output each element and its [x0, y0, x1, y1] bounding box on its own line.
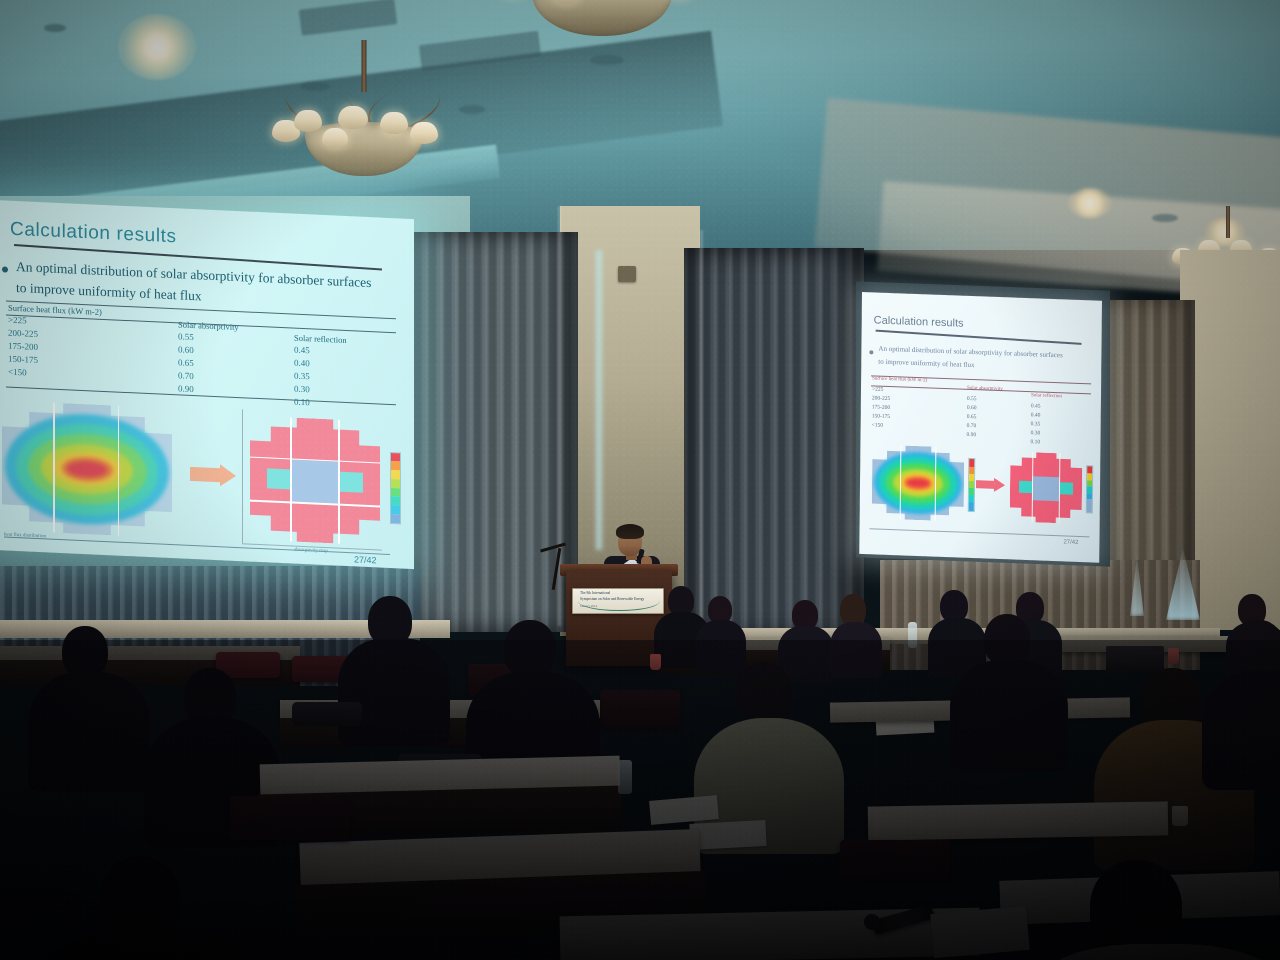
table-cell: 0.40: [1031, 412, 1041, 418]
colorbar-segment: [391, 496, 399, 505]
ceiling-spotlight-icon: [1068, 188, 1112, 218]
table-cell: 0.35: [1031, 421, 1041, 427]
chandelier-lamp-icon: [380, 112, 408, 134]
table-cell: 0.55: [967, 396, 977, 402]
chandelier-lamp-icon: [410, 122, 438, 144]
podium-sign-swoosh: [578, 599, 660, 611]
curtain-left: [410, 232, 578, 632]
figure-heatmap-before: [2, 400, 172, 538]
attendee-body: [830, 622, 882, 678]
slide-bottom-rule-right: [870, 528, 1090, 537]
laptop-bag: [292, 702, 362, 726]
table-cell: 0.65: [967, 414, 977, 420]
table-cell: 0.45: [294, 345, 310, 356]
chandelier-lamp-icon: [294, 110, 322, 132]
wall-vent-icon: [618, 266, 636, 282]
table-cell: <150: [8, 367, 27, 378]
table-cell: 0.90: [178, 383, 194, 394]
table-cell: 0.70: [178, 370, 194, 381]
slide-bullet-line-1-right: An optimal distribution of solar absorpt…: [878, 345, 1062, 360]
handout: [689, 820, 766, 850]
paper-cup: [566, 930, 594, 960]
secondary-projection-screen[interactable]: Calculation results An optimal distribut…: [859, 292, 1102, 563]
table-cell: >225: [872, 386, 883, 392]
table-cell: 200-225: [8, 328, 38, 339]
colorbar-segment: [391, 488, 399, 497]
slide-title: Calculation results: [10, 219, 177, 249]
table-cell: 0.30: [294, 384, 310, 395]
slide-bullet-line-2-right: to improve uniformity of heat flux: [878, 358, 974, 370]
attendee-head: [62, 626, 108, 678]
table-cell: 0.55: [178, 331, 194, 342]
colorbar: [1086, 465, 1093, 513]
region-center-cold: [1033, 476, 1059, 501]
plot-axis-y: [242, 409, 243, 543]
attendee-head: [736, 662, 792, 724]
podium-sign: The 8th International Symposium on Solar…: [572, 588, 664, 614]
chandelier: [492, 0, 712, 72]
figure-absorptivity-after: [250, 416, 380, 546]
slide-table-right: Surface heat flux (kW m-2) Solar absorpt…: [870, 374, 1093, 444]
slide-content-left: Calculation results An optimal distribut…: [0, 200, 414, 569]
bullet-marker-right: [869, 350, 873, 354]
slide-number-left: 27/42: [354, 554, 377, 565]
table-cell: 0.90: [967, 432, 977, 438]
attendee-body: [28, 672, 150, 792]
chandelier-rod: [362, 40, 367, 92]
wall-seam: [700, 230, 703, 630]
chandelier-lamp-icon: [322, 128, 348, 148]
table-cell: 0.35: [294, 371, 310, 382]
colorbar-segment: [391, 462, 399, 471]
figure-heatmap-before-right: [872, 444, 965, 521]
transition-arrow: [190, 467, 220, 482]
table-cell: 0.10: [294, 397, 310, 408]
colorbar-segment: [391, 505, 399, 514]
table-cell: 0.30: [1031, 430, 1041, 436]
chandelier-lamp-icon: [338, 106, 368, 129]
water-bottle: [908, 622, 917, 648]
attendee-head: [1090, 860, 1182, 956]
attendee-body: [696, 620, 746, 672]
figure-absorptivity-after-right: [1010, 451, 1083, 524]
attendee-body: [1040, 944, 1280, 960]
conference-room-photo: Calculation results An optimal distribut…: [0, 0, 1280, 960]
table-cell: 200-225: [872, 395, 890, 402]
transition-arrow-head-right: [994, 478, 1005, 492]
table-cell: 0.45: [1031, 403, 1041, 409]
table-cell: <150: [872, 422, 883, 428]
attendee-head: [1234, 620, 1280, 676]
colorbar-segment: [1087, 499, 1092, 512]
table-header-cell: Solar reflection: [294, 333, 347, 345]
region-side-strip: [338, 472, 363, 493]
paper-cup: [650, 654, 661, 670]
colorbar-segment: [391, 514, 399, 523]
chandelier-bowl: [532, 0, 672, 36]
table-header-cell: Surface heat flux (kW m-2): [872, 376, 927, 383]
region-center-cold: [292, 460, 339, 504]
table-cell: 0.40: [294, 358, 310, 369]
attendee-body: [40, 930, 260, 960]
table-row-front-right: [868, 801, 1169, 840]
presenter-hair: [616, 524, 644, 539]
attendee-head: [984, 614, 1030, 666]
table-cell: 150-175: [872, 413, 890, 420]
attendee-head: [504, 620, 556, 678]
region-side-strip: [267, 468, 292, 489]
table-cell: 175-200: [8, 341, 38, 352]
table-cell: 0.70: [967, 423, 977, 429]
table-cell: >225: [8, 315, 27, 326]
laptop: [1106, 646, 1164, 672]
panel-seam: [53, 403, 55, 533]
colorbar-segment: [391, 453, 399, 462]
transition-arrow-head: [220, 464, 236, 487]
colorbar: [967, 458, 975, 512]
attendee-body: [950, 660, 1068, 772]
attendee-body: [338, 638, 450, 746]
region-side-strip: [1059, 483, 1073, 495]
transition-arrow-right: [976, 480, 994, 489]
wall-light-strip: [594, 250, 604, 550]
chair: [840, 840, 950, 880]
chandelier-rod: [1226, 206, 1230, 238]
region-side-strip: [1019, 481, 1033, 493]
attendee-body: [1202, 670, 1280, 790]
water-bottle: [618, 760, 632, 794]
colorbar-segment: [391, 479, 399, 488]
table-cell: 0.10: [1030, 439, 1040, 445]
slide-content-right: Calculation results An optimal distribut…: [859, 292, 1102, 563]
slide-table: Surface heat flux (kW m-2) Solar absorpt…: [6, 299, 400, 405]
chair: [230, 796, 350, 840]
ceiling-spotlight-icon: [118, 14, 196, 80]
chandelier: [264, 40, 464, 180]
podium-sign-line-1: The 8th International: [580, 591, 610, 595]
panel-seam: [338, 420, 340, 544]
table-cell: 0.65: [178, 357, 194, 368]
panel-seam: [118, 406, 120, 536]
chair: [600, 690, 680, 728]
colorbar: [390, 452, 400, 524]
air-vent-icon: [44, 24, 66, 32]
title-underline-right: [876, 330, 1082, 345]
table-header-cell: Solar reflection: [1031, 393, 1062, 399]
curtain-center: [684, 248, 864, 638]
colorbar-segment: [391, 470, 399, 479]
table-cell: 0.60: [178, 344, 194, 355]
table-cell: 150-175: [8, 354, 38, 365]
slide-number-right: 27/42: [1063, 539, 1078, 546]
main-projection-screen[interactable]: Calculation results An optimal distribut…: [0, 200, 414, 569]
colorbar-segment: [968, 502, 973, 510]
bullet-marker: [2, 266, 8, 272]
paper-cup: [1168, 648, 1179, 664]
paper-cup: [1172, 806, 1188, 826]
handout: [930, 906, 1029, 958]
panel-seam: [290, 417, 292, 541]
slide-title-right: Calculation results: [874, 314, 964, 329]
table-cell: 0.60: [967, 405, 977, 411]
table-cell: 175-200: [872, 404, 890, 411]
